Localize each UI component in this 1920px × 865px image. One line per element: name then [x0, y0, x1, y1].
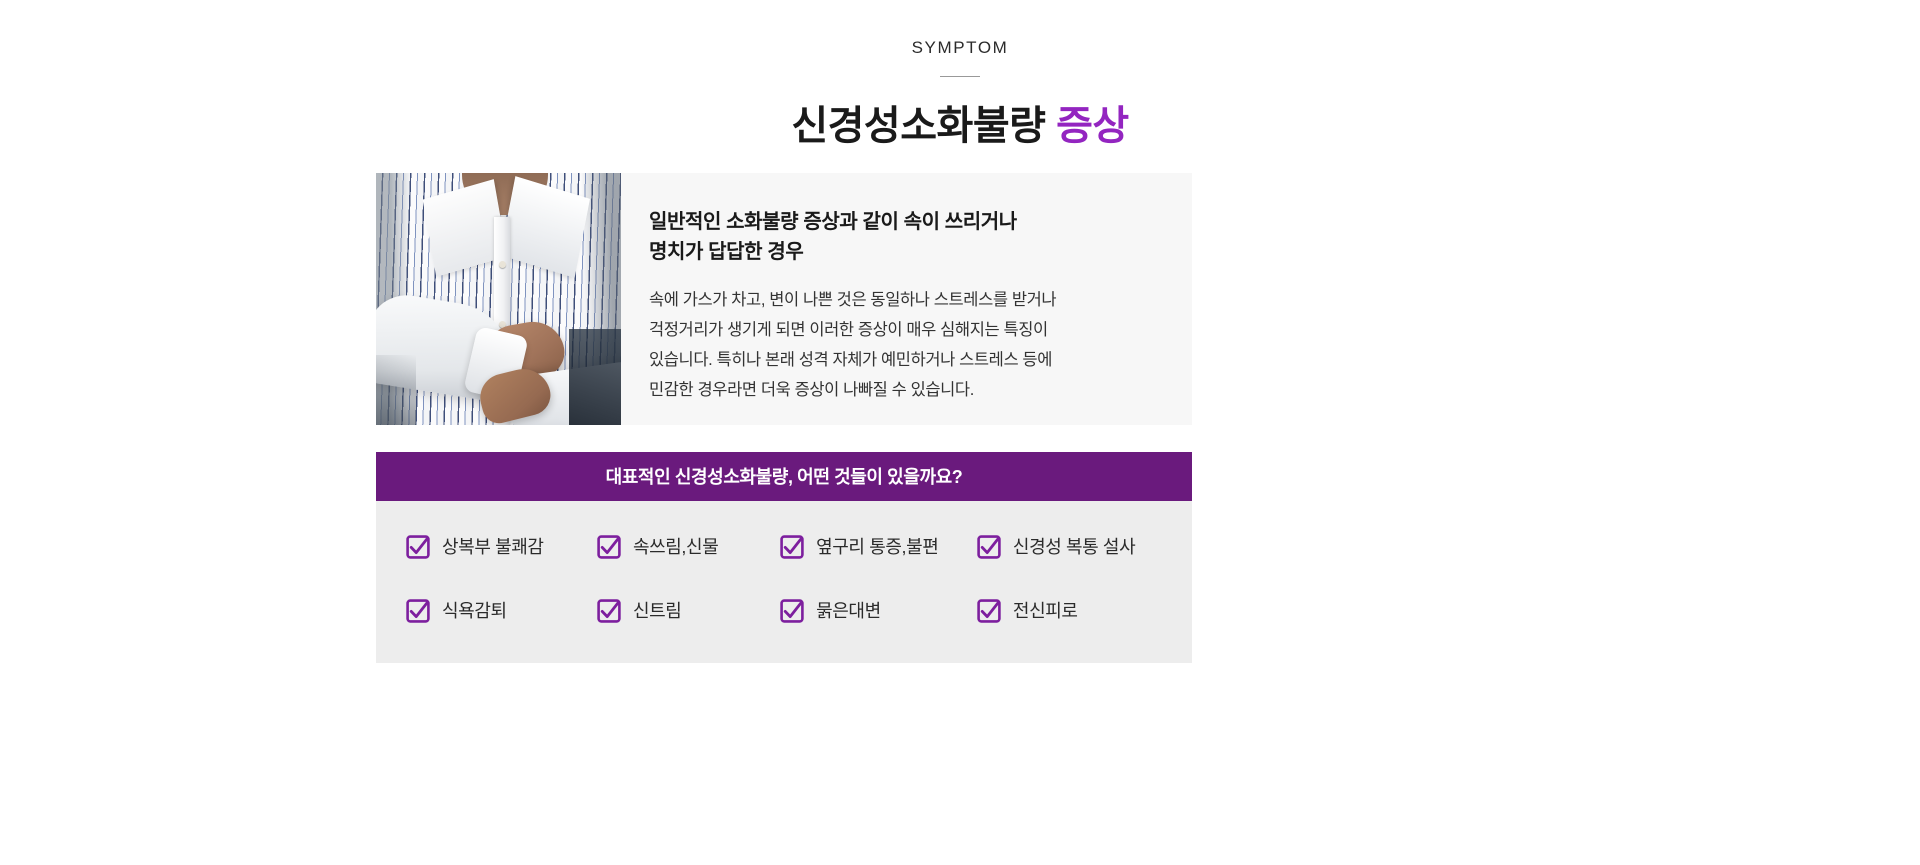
checkbox-checked-icon: [780, 599, 804, 623]
checkbox-checked-icon: [977, 535, 1001, 559]
checkbox-checked-icon: [780, 535, 804, 559]
symptom-item[interactable]: 신트림: [597, 598, 780, 624]
symptom-list-header-bar: 대표적인 신경성소화불량, 어떤 것들이 있을까요?: [376, 452, 1192, 501]
photo-shadow-left: [376, 355, 416, 425]
symptom-item-label: 전신피로: [1013, 598, 1078, 624]
symptom-list-row: 식욕감퇴 신트림: [406, 589, 1162, 633]
page-title-accent: 증상: [1056, 104, 1129, 148]
card-text-block: 일반적인 소화불량 증상과 같이 속이 쓰리거나 명치가 답답한 경우 속에 가…: [621, 173, 1192, 425]
section-eyebrow-label: SYMPTOM: [0, 36, 1920, 60]
symptom-list-panel: 상복부 불쾌감 속쓰림,신물: [376, 501, 1192, 663]
symptom-item[interactable]: 전신피로: [977, 598, 1162, 624]
symptom-list-row: 상복부 불쾌감 속쓰림,신물: [406, 525, 1162, 569]
checkbox-checked-icon: [597, 535, 621, 559]
symptom-item-label: 묽은대변: [816, 598, 881, 624]
symptom-item-label: 식욕감퇴: [442, 598, 507, 624]
section-header: SYMPTOM 신경성소화불량 증상: [0, 36, 1920, 151]
card-heading: 일반적인 소화불량 증상과 같이 속이 쓰리거나 명치가 답답한 경우: [649, 207, 1156, 267]
card-paragraph: 속에 가스가 차고, 변이 나쁜 것은 동일하나 스트레스를 받거나 걱정거리가…: [649, 285, 1156, 405]
symptom-item-label: 상복부 불쾌감: [442, 534, 544, 560]
checkbox-checked-icon: [597, 599, 621, 623]
symptom-item-label: 신트림: [633, 598, 681, 624]
symptom-list-title: 대표적인 신경성소화불량, 어떤 것들이 있을까요?: [606, 464, 963, 490]
symptom-item[interactable]: 묽은대변: [780, 598, 977, 624]
symptom-item-label: 신경성 복통 설사: [1013, 534, 1135, 560]
symptom-item[interactable]: 옆구리 통증,불편: [780, 534, 977, 560]
stomach-pain-photo: [376, 173, 621, 425]
page-title-main: 신경성소화불량: [791, 104, 1045, 148]
page-title: 신경성소화불량 증상: [0, 101, 1920, 151]
header-divider: [940, 76, 980, 77]
symptom-item[interactable]: 신경성 복통 설사: [977, 534, 1162, 560]
symptom-description-card: 일반적인 소화불량 증상과 같이 속이 쓰리거나 명치가 답답한 경우 속에 가…: [376, 173, 1192, 425]
checkbox-checked-icon: [977, 599, 1001, 623]
photo-shirt-button: [499, 261, 506, 268]
checkbox-checked-icon: [406, 535, 430, 559]
symptom-item-label: 속쓰림,신물: [633, 534, 718, 560]
photo-shadow-right: [569, 329, 621, 425]
symptom-item[interactable]: 속쓰림,신물: [597, 534, 780, 560]
symptom-item[interactable]: 식욕감퇴: [406, 598, 597, 624]
symptom-list-block: 대표적인 신경성소화불량, 어떤 것들이 있을까요? 상복부 불쾌감: [376, 452, 1192, 663]
checkbox-checked-icon: [406, 599, 430, 623]
symptom-item-label: 옆구리 통증,불편: [816, 534, 938, 560]
symptom-item[interactable]: 상복부 불쾌감: [406, 534, 597, 560]
symptom-section-page: SYMPTOM 신경성소화불량 증상 일반적인 소화불량 증상과 같이 속이 쓰…: [0, 0, 1920, 865]
